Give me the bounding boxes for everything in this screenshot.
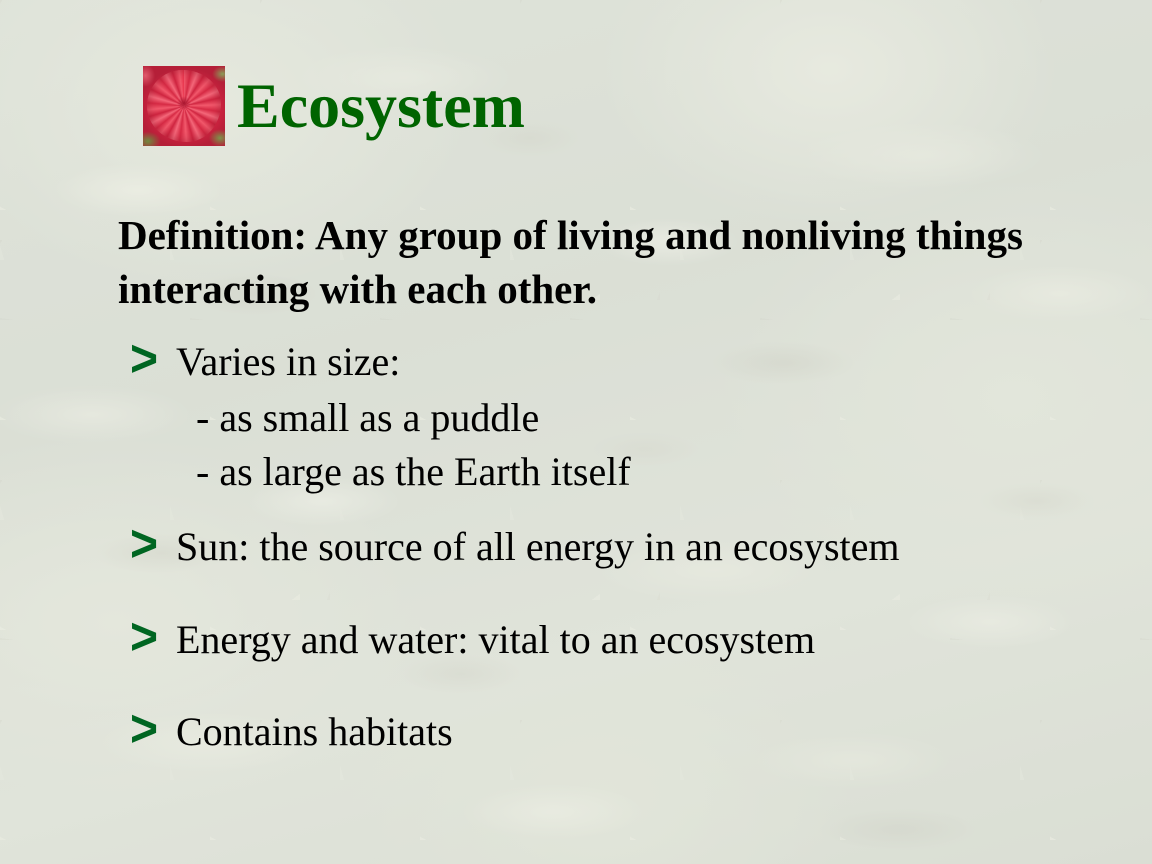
bullet-list: > Varies in size: - as small as a puddle…	[130, 336, 1130, 755]
bullet-line: > Energy and water: vital to an ecosyste…	[130, 614, 1130, 663]
bullet-line: > Contains habitats	[130, 706, 1130, 755]
chevron-right-bullet-icon: >	[130, 519, 176, 571]
list-item: > Energy and water: vital to an ecosyste…	[130, 614, 1130, 663]
sub-list: - as small as a puddle - as large as the…	[196, 391, 1130, 499]
list-item: > Sun: the source of all energy in an ec…	[130, 521, 1130, 570]
list-item: > Varies in size: - as small as a puddle…	[130, 336, 1130, 499]
carnation-flower-icon	[143, 66, 225, 146]
definition-paragraph: Definition: Any group of living and nonl…	[118, 208, 1068, 316]
sub-list-item: - as large as the Earth itself	[196, 445, 1130, 499]
bullet-text: Contains habitats	[176, 710, 453, 755]
chevron-right-bullet-icon: >	[130, 334, 176, 386]
slide-title-row: Ecosystem	[143, 66, 525, 146]
bullet-line: > Sun: the source of all energy in an ec…	[130, 521, 1130, 570]
bullet-text: Energy and water: vital to an ecosystem	[176, 618, 815, 663]
list-item: > Contains habitats	[130, 706, 1130, 755]
bullet-text: Sun: the source of all energy in an ecos…	[176, 525, 900, 570]
presentation-slide: Ecosystem Definition: Any group of livin…	[0, 0, 1152, 864]
sub-list-item: - as small as a puddle	[196, 391, 1130, 445]
chevron-right-bullet-icon: >	[130, 704, 176, 756]
bullet-line: > Varies in size:	[130, 336, 1130, 385]
bullet-text: Varies in size:	[176, 340, 400, 385]
chevron-right-bullet-icon: >	[130, 612, 176, 664]
page-title: Ecosystem	[237, 74, 525, 138]
